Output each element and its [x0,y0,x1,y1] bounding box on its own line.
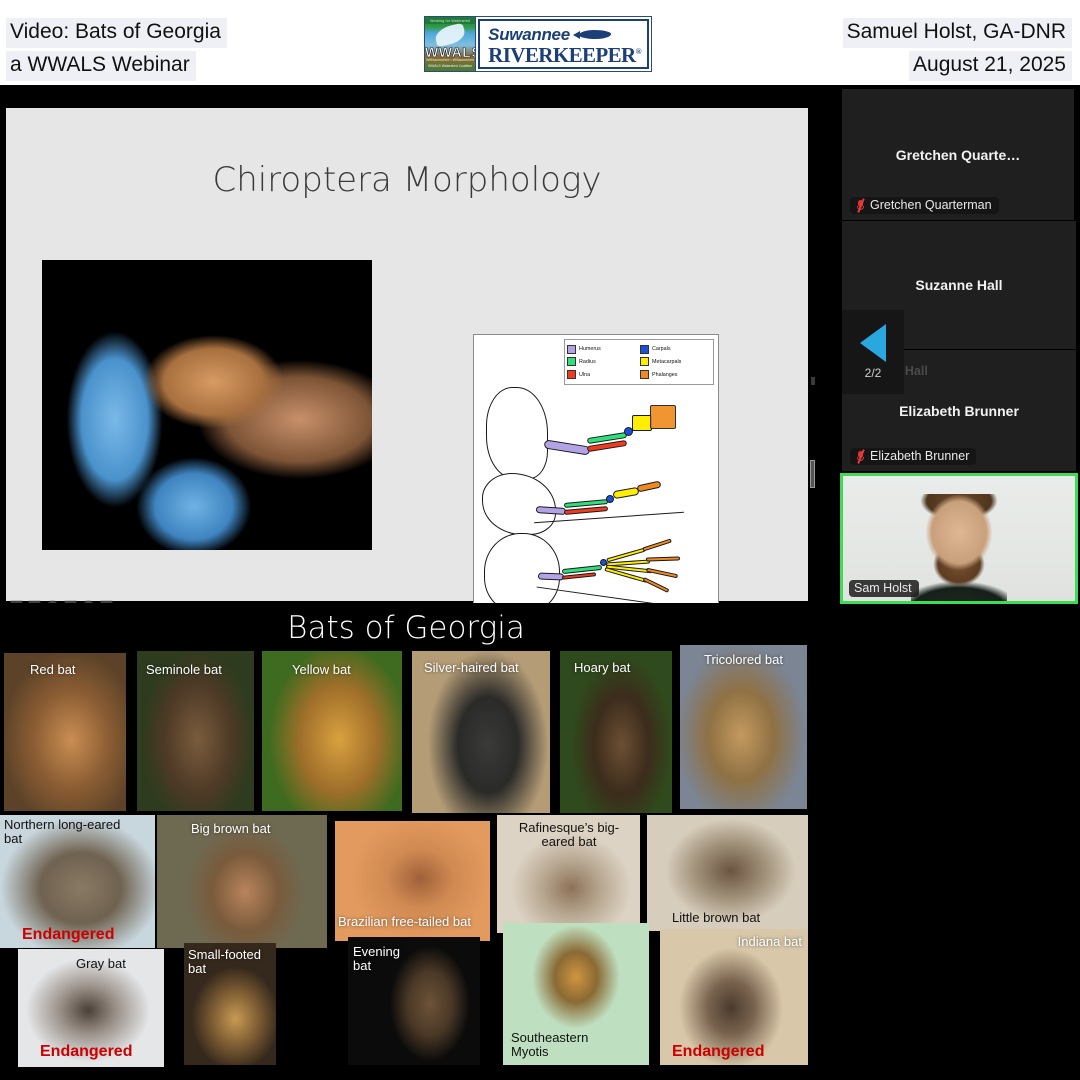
participant-display-name-elizabeth: Elizabeth Brunner [842,403,1076,419]
participant-nametag-elizabeth: Elizabeth Brunner [850,448,976,465]
legend-swatch-phalanges [640,370,649,379]
human-phalanges-bones [650,405,676,429]
participant-display-name-suzanne: Suzanne Hall [842,277,1076,293]
legend-item-ulna: Ulna [567,368,638,381]
wwals-badge-top-text: Working for Watershed Conservation [425,18,475,24]
wwals-badge-icon: Working for Watershed Conservation WWALS… [425,17,476,71]
bat-card-indiana-bat: Indiana bat Endangered [660,929,808,1065]
bat-label-hoary-bat: Hoary bat [574,661,630,675]
legend-label-metacarpals: Metacarpals [652,356,681,368]
legend-label-humerus: Humerus [579,343,601,355]
legend-label-ulna: Ulna [579,369,590,381]
bat-label-small-footed-bat: Small-footed bat [188,948,262,976]
legend-swatch-humerus [567,345,576,354]
bat-card-rafinesques-big-eared-bat: Rafinesque’s big-eared bat [497,815,640,933]
legend-item-humerus: Humerus [567,343,638,356]
legend-swatch-ulna [567,370,576,379]
bat-label-rafinesques-big-eared-bat: Rafinesque’s big-eared bat [513,821,625,849]
bat-card-silver-haired-bat: Silver-haired bat [412,651,550,813]
prev-page-arrow-icon[interactable] [860,324,886,362]
bat-humerus-bone [538,573,564,581]
suwannee-word: Suwannee [488,25,570,45]
stage-edge-marker [811,377,815,385]
legend-item-radius: Radius [567,356,638,369]
human-metacarpals-bones [632,415,652,431]
slide-title: Chiroptera Morphology [6,160,808,200]
bat-card-little-brown-bat: Little brown bat [647,815,808,931]
bat-card-northern-long-eared-bat: Northern long-eared bat Endangered [0,815,155,948]
legend-label-radius: Radius [579,356,596,368]
bat-photo-artwork [42,260,372,550]
legend-swatch-metacarpals [640,357,649,366]
bat-label-red-bat: Red bat [30,663,76,677]
active-speaker-name: Sam Holst [854,581,912,595]
bird-ulna-bone [564,506,608,515]
stage-scrollbar[interactable] [810,460,815,488]
riverkeeper-word: RIVERKEEPER® [488,45,641,66]
bat-label-tricolored-bat: Tricolored bat [704,653,783,667]
bird-metacarpals-bones [613,487,640,499]
legend-swatch-radius [567,357,576,366]
participant-tile-gretchen[interactable]: Gretchen Quarte… Gretchen Quarterman [842,89,1074,220]
bat-label-indiana-bat: Indiana bat [738,935,802,949]
legend-item-phalanges: Phalanges [640,368,711,381]
wwals-badge-sub1: Withlacoochee • Willacoochee [425,58,475,62]
human-figure-outline [486,387,548,479]
bat-card-tricolored-bat: Tricolored bat [680,645,807,809]
bat-label-northern-long-eared-bat: Northern long-eared bat [4,818,136,846]
page-nav-overlay[interactable]: 2/2 [842,310,904,394]
legend-item-carpals: Carpals [640,343,711,356]
bat-card-big-brown-bat: Big brown bat [157,815,327,948]
suwannee-word-row: Suwannee [488,25,641,45]
active-speaker-tile-sam-holst[interactable]: Sam Holst [840,473,1078,604]
bat-label-seminole-bat: Seminole bat [146,663,222,677]
bird-figure-outline [482,473,556,535]
human-humerus-bone [544,439,591,455]
lower-slide-title: Bats of Georgia [0,610,812,646]
bat-card-yellow-bat: Yellow bat [262,651,402,811]
screen-root: Video: Bats of Georgia a WWALS Webinar W… [0,0,1080,1080]
participant-display-name-gretchen: Gretchen Quarte… [842,147,1074,163]
shared-slide-chiroptera[interactable]: Chiroptera Morphology Humerus Carpals [6,108,808,601]
header-left-text: Video: Bats of Georgia a WWALS Webinar [6,18,227,84]
mic-muted-icon [855,199,866,212]
bat-label-southeastern-myotis: Southeastern Myotis [511,1031,611,1059]
participant-rail: Gretchen Quarte… Gretchen Quarterman Suz… [820,85,1080,1080]
presenter-name: Samuel Holst, GA-DNR [843,18,1072,48]
mic-muted-icon [855,450,866,463]
status-endangered-indiana-bat: Endangered [672,1043,764,1061]
bat-card-small-footed-bat: Small-footed bat [184,943,276,1065]
video-stage: Chiroptera Morphology Humerus Carpals [0,85,820,1080]
bat-label-little-brown-bat: Little brown bat [672,911,760,925]
fish-icon [573,29,615,40]
participant-name-gretchen: Gretchen Quarterman [870,198,992,212]
video-title: Video: Bats of Georgia [6,18,227,48]
presentation-date: August 21, 2025 [909,51,1072,81]
legend-swatch-carpals [640,345,649,354]
bird-phalanges-bones [637,481,662,493]
header-right-text: Samuel Holst, GA-DNR August 21, 2025 [843,18,1072,84]
page-header: Video: Bats of Georgia a WWALS Webinar W… [0,0,1080,85]
bat-card-brazilian-free-tailed-bat: Brazilian free-tailed bat [335,821,490,941]
active-speaker-nametag: Sam Holst [849,580,919,597]
bat-phalanges-bone-2 [646,556,680,561]
bat-label-gray-bat: Gray bat [76,957,126,971]
bat-card-evening-bat: Evening bat [348,937,480,1065]
shared-slide-bats-of-georgia[interactable]: Bats of Georgia Red bat Seminole bat Yel… [0,603,812,1080]
bat-label-brazilian-free-tailed-bat: Brazilian free-tailed bat [338,915,471,929]
bat-card-red-bat: Red bat [4,653,126,811]
bat-label-evening-bat: Evening bat [353,945,411,973]
bat-in-hand-photo [42,260,372,550]
riverkeeper-word-text: RIVERKEEPER [488,43,635,67]
status-endangered-northern-long-eared: Endangered [22,926,114,944]
status-endangered-gray-bat: Endangered [40,1043,132,1061]
diagram-legend: Humerus Carpals Radius Metacarpals [564,339,714,385]
suwannee-riverkeeper-logo: Working for Watershed Conservation WWALS… [424,16,652,72]
bat-card-southeastern-myotis: Southeastern Myotis [503,923,649,1065]
riverkeeper-wordmark-block: Suwannee RIVERKEEPER® [478,19,649,69]
bat-card-gray-bat: Gray bat Endangered [18,949,164,1067]
video-subtitle: a WWALS Webinar [6,51,196,81]
webcam-person [911,494,1007,604]
registered-mark: ® [636,47,641,56]
participant-nametag-gretchen: Gretchen Quarterman [850,197,999,214]
wwals-badge-footer: WWALS Watershed Coalition [425,64,475,68]
bat-phalanges-bone-4 [643,577,670,593]
bat-label-big-brown-bat: Big brown bat [191,822,271,836]
page-indicator: 2/2 [865,366,882,380]
bat-card-hoary-bat: Hoary bat [560,651,672,813]
bat-card-seminole-bat: Seminole bat [137,651,254,811]
bat-phalanges-bone-1 [642,538,672,551]
legend-item-metacarpals: Metacarpals [640,356,711,369]
bat-label-silver-haired-bat: Silver-haired bat [424,661,519,675]
bat-label-yellow-bat: Yellow bat [292,663,351,677]
legend-label-carpals: Carpals [652,343,671,355]
participant-name-elizabeth: Elizabeth Brunner [870,449,969,463]
legend-label-phalanges: Phalanges [652,369,677,381]
